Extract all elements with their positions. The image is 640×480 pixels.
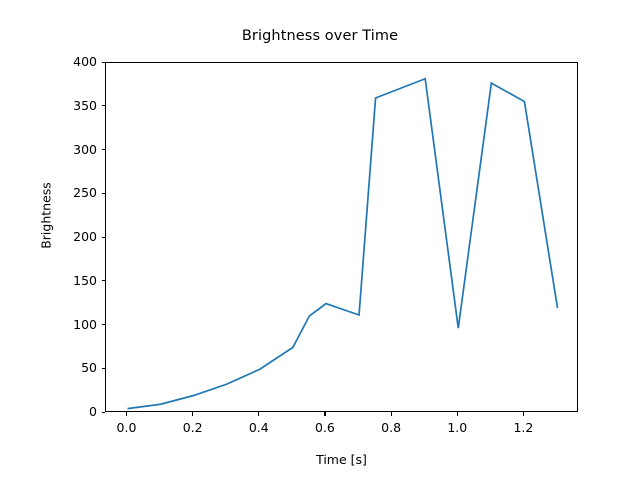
y-tick-label: 100: [73, 317, 97, 332]
y-tick-label: 0: [89, 404, 97, 419]
chart-title: Brightness over Time: [0, 28, 640, 44]
x-axis-label: Time [s]: [105, 452, 578, 467]
x-tick-label: 0.0: [117, 420, 137, 435]
x-tick-label: 1.0: [447, 420, 467, 435]
data-line-svg: [106, 63, 579, 413]
brightness-line-series: [128, 79, 558, 409]
plot-area: [105, 62, 578, 412]
y-tick-label: 300: [73, 142, 97, 157]
x-tick-label: 0.4: [249, 420, 269, 435]
y-tick-label: 50: [81, 360, 97, 375]
y-tick-label: 350: [73, 98, 97, 113]
y-tick-label: 200: [73, 229, 97, 244]
y-axis-label: Brightness: [39, 156, 54, 276]
y-tick-label: 250: [73, 185, 97, 200]
x-tick-label: 0.6: [315, 420, 335, 435]
y-tick-label: 150: [73, 273, 97, 288]
x-tick-label: 0.8: [381, 420, 401, 435]
x-tick-label: 0.2: [183, 420, 203, 435]
y-tick-label: 400: [73, 54, 97, 69]
chart-figure: Brightness over Time Brightness Time [s]…: [0, 0, 640, 480]
x-tick-label: 1.2: [513, 420, 533, 435]
